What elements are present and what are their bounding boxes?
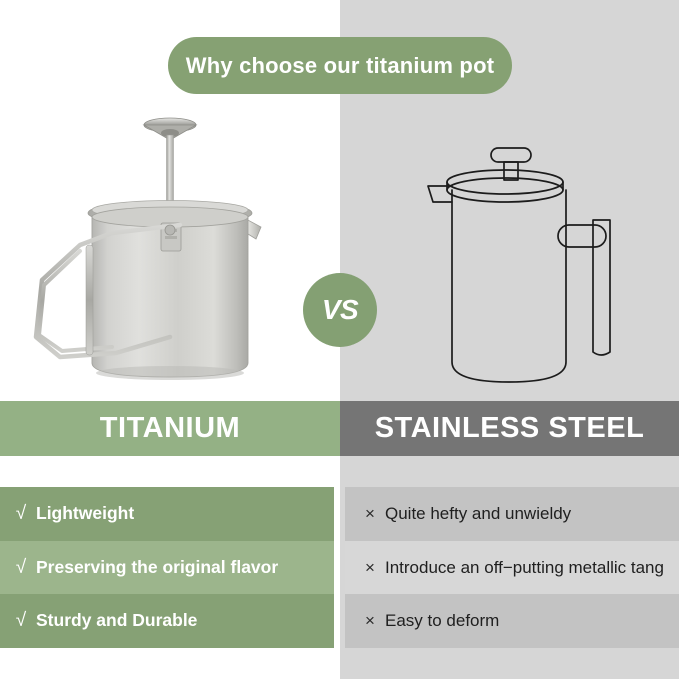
versus-label: VS [322,294,358,326]
cross-icon: × [345,559,385,576]
versus-badge: VS [303,273,377,347]
material-band-titanium: TITANIUM [0,401,340,456]
titanium-pot-image: COMTAI® [20,105,310,400]
comparison-infographic: Why choose our titanium pot [0,0,679,679]
list-item: √ Preserving the original flavor [0,541,334,595]
cross-icon: × [345,505,385,522]
stainless-steel-pot-image [395,130,665,400]
list-item: √ Sturdy and Durable [0,594,334,648]
material-name-titanium: TITANIUM [100,412,240,445]
cross-icon: × [345,612,385,629]
list-item-label: Preserving the original flavor [36,558,286,578]
cons-list: × Quite hefty and unwieldy × Introduce a… [345,487,679,648]
list-item-label: Easy to deform [385,611,507,630]
list-item: × Easy to deform [345,594,679,648]
material-name-stainless-steel: STAINLESS STEEL [375,412,645,445]
check-icon: √ [0,611,36,630]
stainless-steel-pot-line-art [395,130,665,400]
material-band-stainless-steel: STAINLESS STEEL [340,401,679,456]
list-item: × Quite hefty and unwieldy [345,487,679,541]
headline-pill: Why choose our titanium pot [168,37,512,94]
list-item-label: Introduce an off−putting metallic tang [385,558,672,577]
check-icon: √ [0,504,36,523]
list-item-label: Quite hefty and unwieldy [385,504,579,523]
check-icon: √ [0,558,36,577]
titanium-pot-illustration [20,105,310,400]
list-item-label: Lightweight [36,504,142,524]
headline-text: Why choose our titanium pot [186,53,495,79]
list-item: × Introduce an off−putting metallic tang [345,541,679,595]
pros-list: √ Lightweight √ Preserving the original … [0,487,334,648]
list-item-label: Sturdy and Durable [36,611,205,631]
list-item: √ Lightweight [0,487,334,541]
